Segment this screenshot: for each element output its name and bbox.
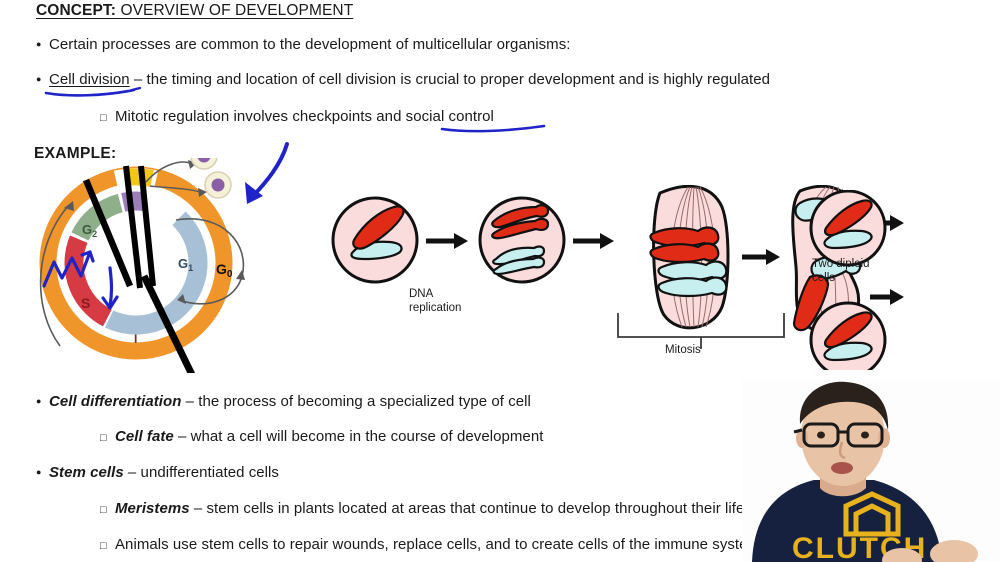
cell-cycle-diagram: G2 S G1 I G0 [28,158,278,373]
bullet-item: Certain processes are common to the deve… [36,36,570,53]
sub-bullet-item: Animals use stem cells to repair wounds,… [100,536,760,553]
arrow-to-metaphase [573,233,614,249]
bullet-text: – the timing and location of cell divisi… [130,71,770,88]
daughter-cell-2-nucleus [212,179,225,192]
sub-bullet-item: Cell fate – what a cell will become in t… [100,428,543,445]
bullet-text: – stem cells in plants located at areas … [190,500,745,517]
bullet-square-icon [100,428,115,445]
sub-bullet-item: Meristems – stem cells in plants located… [100,500,744,517]
bullet-square-icon [100,536,115,553]
sub-bullet-item: Mitotic regulation involves checkpoints … [100,108,494,125]
cell-stage-3-metaphase [651,186,728,327]
bullet-term: Cell differentiation [49,393,181,410]
arrow-to-daughter-bottom [870,289,904,305]
dna-replication-label: DNA replication [409,288,461,315]
bullet-dot-icon [36,36,49,53]
bullet-dot-icon [36,71,49,88]
instructor-mouth [831,462,853,474]
concept-label: CONCEPT: [36,2,116,19]
instructor-webcam-overlay: CLUTCH [742,380,1000,562]
bullet-square-icon [100,500,115,517]
concept-title: OVERVIEW OF DEVELOPMENT [120,2,353,19]
bullet-dot-icon [36,393,49,410]
interphase-label: I [134,332,137,346]
arrow-dna-replication [426,233,468,249]
bullet-item: Cell division – the timing and location … [36,71,770,88]
bullet-term: Cell division [49,71,130,88]
arrow-to-telophase [742,249,780,265]
bullet-item: Cell differentiation – the process of be… [36,393,531,410]
bullet-term: Meristems [115,500,190,517]
two-diploid-cells-label: Two diploid cells [812,258,870,285]
bullet-text: – the process of becoming a specialized … [181,393,531,410]
page-title: CONCEPT: OVERVIEW OF DEVELOPMENT [36,2,353,20]
bullet-dot-icon [36,464,49,481]
bullet-square-icon [100,108,115,125]
mitosis-label: Mitosis [665,344,701,358]
s-label: S [81,295,90,311]
bullet-text: Mitotic regulation involves checkpoints … [115,108,494,125]
bullet-term: Cell fate [115,428,174,445]
lecture-slide: CONCEPT: OVERVIEW OF DEVELOPMENT Certain… [0,0,1000,562]
instructor-video: CLUTCH [742,380,1000,562]
bullet-term: Stem cells [49,464,124,481]
bullet-text: Animals use stem cells to repair wounds,… [115,536,760,553]
ink-down-arrow-interphase [103,268,117,308]
bullet-text: – undifferentiated cells [124,464,279,481]
chromosome-blue-metaphase-2 [659,278,727,296]
arrow-to-daughter-top [870,215,904,231]
chromosome-red-metaphase-2 [651,244,719,262]
cell-stage-1-interphase [333,198,417,282]
bullet-item: Stem cells – undifferentiated cells [36,464,279,481]
cell-stage-2-replicated [480,198,564,282]
bullet-text: – what a cell will become in the course … [174,428,544,445]
bullet-text: Certain processes are common to the deve… [49,36,570,53]
